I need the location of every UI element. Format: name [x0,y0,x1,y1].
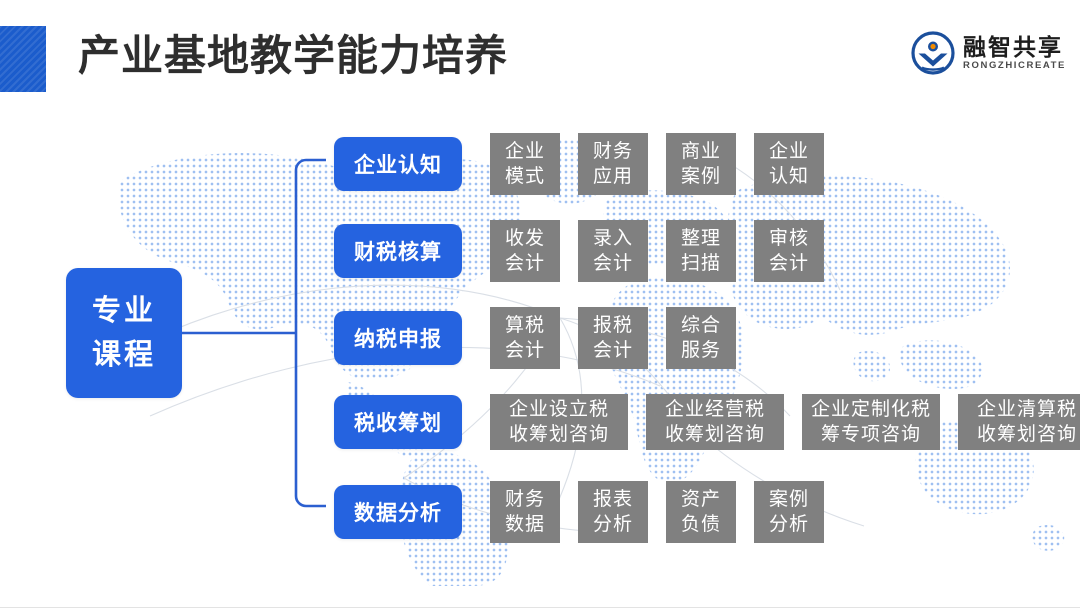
leaf-item-line-2: 分析 [769,512,809,537]
leaf-item-line-2: 收筹划咨询 [509,422,609,447]
leaf-item-group: 收发 会计 录入 会计 整理 扫描 审核 会计 [490,220,824,282]
header-accent-block [0,26,46,92]
leaf-item-line-2: 负债 [681,512,721,537]
leaf-item-line-2: 收筹划咨询 [977,422,1077,447]
leaf-item[interactable]: 综合 服务 [666,307,736,369]
leaf-item-line-1: 企业 [769,139,809,164]
leaf-item[interactable]: 录入 会计 [578,220,648,282]
leaf-item-line-1: 算税 [505,313,545,338]
leaf-item[interactable]: 企业 模式 [490,133,560,195]
slide-canvas: 产业基地教学能力培养 融智共享 RONGZHICREATE 专业 课程 [0,0,1080,608]
leaf-item-line-2: 会计 [769,251,809,276]
logo-name-en: RONGZHICREATE [963,60,1066,72]
leaf-item-line-1: 商业 [681,139,721,164]
leaf-item-line-2: 服务 [681,338,721,363]
leaf-item[interactable]: 企业清算税 收筹划咨询 [958,394,1080,450]
leaf-item[interactable]: 整理 扫描 [666,220,736,282]
root-node-line-1: 专业 [92,296,156,326]
leaf-item-group: 企业设立税 收筹划咨询 企业经营税 收筹划咨询 企业定制化税 筹专项咨询 企业清… [490,394,1080,450]
leaf-item-line-1: 资产 [681,487,721,512]
branch-row: 企业认知 企业 模式 财务 应用 商业 案例 企业 认知 [334,133,824,195]
leaf-item-line-1: 财务 [505,487,545,512]
leaf-item[interactable]: 财务 数据 [490,481,560,543]
category-node[interactable]: 数据分析 [334,485,462,539]
branch-row: 税收筹划 企业设立税 收筹划咨询 企业经营税 收筹划咨询 企业定制化税 筹专项咨… [334,394,1080,450]
root-node-line-2: 课程 [92,340,156,370]
leaf-item[interactable]: 案例 分析 [754,481,824,543]
category-node[interactable]: 纳税申报 [334,311,462,365]
leaf-item-line-1: 企业经营税 [665,397,765,422]
category-node[interactable]: 税收筹划 [334,395,462,449]
leaf-item-line-1: 企业设立税 [509,397,609,422]
leaf-item-line-1: 财务 [593,139,633,164]
branch-row: 财税核算 收发 会计 录入 会计 整理 扫描 审核 会计 [334,220,824,282]
leaf-item[interactable]: 资产 负债 [666,481,736,543]
leaf-item-line-2: 数据 [505,512,545,537]
leaf-item-line-2: 认知 [769,164,809,189]
leaf-item[interactable]: 企业设立税 收筹划咨询 [490,394,628,450]
leaf-item[interactable]: 审核 会计 [754,220,824,282]
leaf-item[interactable]: 企业定制化税 筹专项咨询 [802,394,940,450]
leaf-item[interactable]: 报税 会计 [578,307,648,369]
leaf-item-group: 企业 模式 财务 应用 商业 案例 企业 认知 [490,133,824,195]
leaf-item-line-1: 录入 [593,226,633,251]
leaf-item-line-2: 筹专项咨询 [821,422,921,447]
leaf-item[interactable]: 报表 分析 [578,481,648,543]
leaf-item-line-1: 企业清算税 [977,397,1077,422]
leaf-item-line-1: 收发 [505,226,545,251]
leaf-item-line-2: 会计 [593,251,633,276]
category-node[interactable]: 财税核算 [334,224,462,278]
leaf-item-line-2: 扫描 [681,251,721,276]
category-node[interactable]: 企业认知 [334,137,462,191]
leaf-item-line-1: 报税 [593,313,633,338]
course-structure-diagram: 专业 课程 企业认知 企业 模式 财务 应用 [0,0,1080,608]
leaf-item-line-1: 综合 [681,313,721,338]
leaf-item-line-1: 整理 [681,226,721,251]
page-title: 产业基地教学能力培养 [78,25,508,87]
leaf-item[interactable]: 企业 认知 [754,133,824,195]
leaf-item-line-2: 会计 [505,251,545,276]
leaf-item-line-2: 收筹划咨询 [665,422,765,447]
leaf-item-line-2: 分析 [593,512,633,537]
leaf-item[interactable]: 企业经营税 收筹划咨询 [646,394,784,450]
leaf-item-group: 财务 数据 报表 分析 资产 负债 案例 分析 [490,481,824,543]
leaf-item-line-2: 案例 [681,164,721,189]
leaf-item[interactable]: 算税 会计 [490,307,560,369]
root-node-professional-courses[interactable]: 专业 课程 [66,268,182,398]
leaf-item-line-2: 应用 [593,164,633,189]
logo-emblem-icon [911,31,955,75]
leaf-item-line-2: 会计 [593,338,633,363]
leaf-item-line-1: 报表 [593,487,633,512]
leaf-item-line-1: 审核 [769,226,809,251]
leaf-item-line-2: 模式 [505,164,545,189]
branch-row: 纳税申报 算税 会计 报税 会计 综合 服务 [334,307,736,369]
branch-row: 数据分析 财务 数据 报表 分析 资产 负债 案例 分析 [334,481,824,543]
leaf-item[interactable]: 商业 案例 [666,133,736,195]
leaf-item-line-1: 企业定制化税 [811,397,931,422]
logo-name-cn: 融智共享 [963,35,1066,60]
leaf-item-group: 算税 会计 报税 会计 综合 服务 [490,307,736,369]
leaf-item-line-1: 案例 [769,487,809,512]
leaf-item-line-1: 企业 [505,139,545,164]
leaf-item[interactable]: 财务 应用 [578,133,648,195]
brand-logo: 融智共享 RONGZHICREATE [911,28,1066,78]
leaf-item[interactable]: 收发 会计 [490,220,560,282]
leaf-item-line-2: 会计 [505,338,545,363]
